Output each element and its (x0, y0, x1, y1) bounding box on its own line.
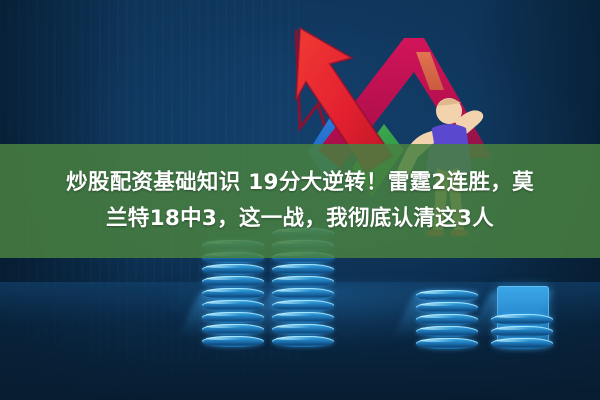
thumbnail-image: 炒股配资基础知识 19分大逆转！雷霆2连胜，莫 兰特18中3，这一战，我彻底认清… (0, 0, 600, 400)
caption-line-1: 炒股配资基础知识 19分大逆转！雷霆2连胜，莫 (66, 165, 534, 201)
caption-band: 炒股配资基础知识 19分大逆转！雷霆2连胜，莫 兰特18中3，这一战，我彻底认清… (0, 144, 600, 258)
caption-line-2: 兰特18中3，这一战，我彻底认清这3人 (106, 201, 494, 237)
coin-stack-4 (491, 314, 553, 354)
coin-stack-3 (416, 290, 478, 352)
